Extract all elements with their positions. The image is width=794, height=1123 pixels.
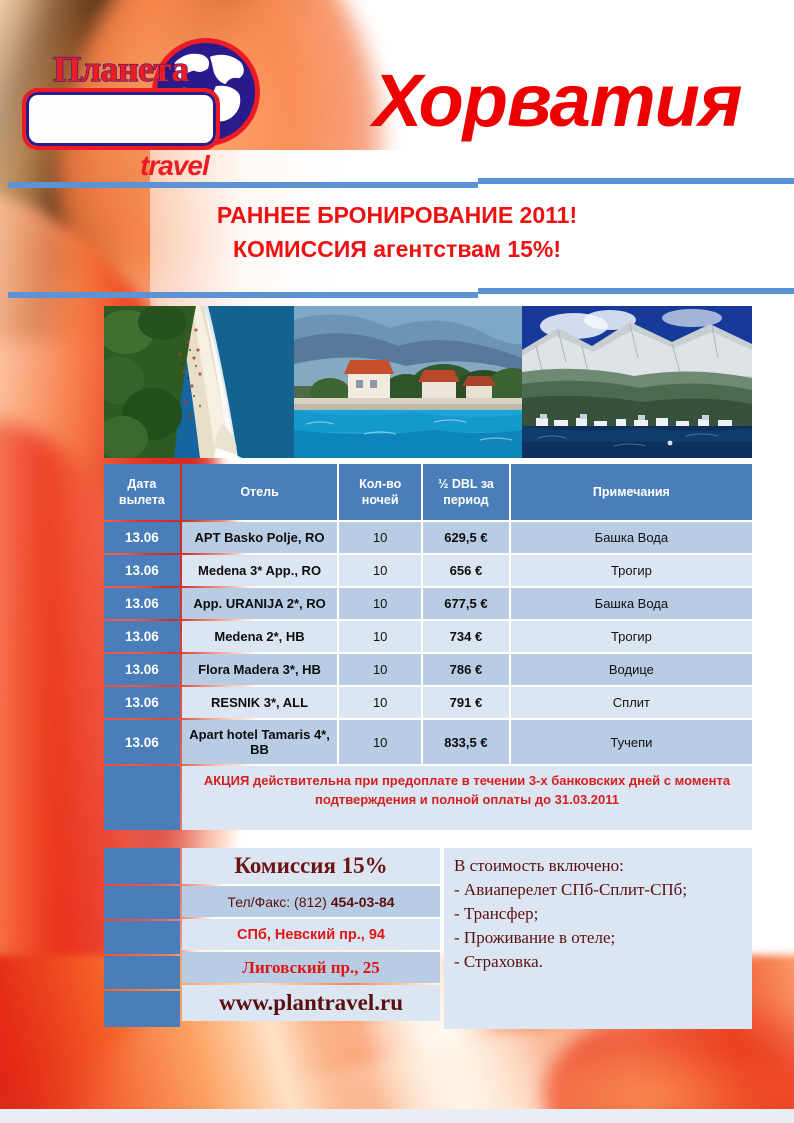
divider-top [0, 178, 794, 192]
header-cell-notes: Примечания [511, 464, 752, 520]
phone-row[interactable]: Тел/Факс: (812) 454-03-84 [182, 886, 440, 917]
cell-date: 13.06 [104, 555, 180, 586]
cell-hotel: APT Basko Polje, RO [182, 522, 338, 553]
table-row: 13.06 Medena 3* App., RO 10 656 € Трогир [104, 555, 752, 586]
contact-footer: Комиссия 15% Тел/Факс: (812) 454-03-84 С… [104, 848, 752, 1029]
cell-date: 13.06 [104, 588, 180, 619]
cell-nights: 10 [339, 687, 421, 718]
company-logo: Планета travel [22, 38, 277, 180]
cell-note: Башка Вода [511, 522, 752, 553]
cell-date: 13.06 [104, 687, 180, 718]
cell-note: Трогир [511, 621, 752, 652]
phone-number: 454-03-84 [331, 894, 395, 910]
cell-note: Трогир [511, 555, 752, 586]
cell-price: 656 € [423, 555, 509, 586]
header-cell-price: ½ DBL запериод [423, 464, 509, 520]
commission-label: Комиссия 15% [182, 848, 440, 884]
photo-strip [104, 306, 752, 458]
poster-header: Планета travel Хорватия [0, 0, 794, 180]
included-panel: В стоимость включено: - Авиаперелет СПб-… [444, 848, 752, 1029]
address-nevsky: СПб, Невский пр., 94 [182, 919, 440, 950]
cell-hotel: App. URANIJA 2*, RO [182, 588, 338, 619]
bottom-edge-bar [0, 1109, 794, 1123]
cell-price: 677,5 € [423, 588, 509, 619]
website-link[interactable]: www.plantravel.ru [182, 985, 440, 1021]
price-table: Датавылета Отель Кол-воночей ½ DBL запер… [104, 464, 752, 832]
footer-blue-cell [104, 921, 180, 954]
promo-band-spacer [104, 766, 180, 830]
cell-date: 13.06 [104, 720, 180, 764]
footer-blue-cell [104, 886, 180, 919]
cell-price: 791 € [423, 687, 509, 718]
table-row: 13.06 Medena 2*, HB 10 734 € Трогир [104, 621, 752, 652]
cell-hotel: Flora Madera 3*, HB [182, 654, 338, 685]
table-row: 13.06 Apart hotel Tamaris 4*, BB 10 833,… [104, 720, 752, 764]
table-header-row: Датавылета Отель Кол-воночей ½ DBL запер… [104, 464, 752, 520]
cell-price: 786 € [423, 654, 509, 685]
beach-cove-photo [104, 306, 294, 458]
cell-date: 13.06 [104, 522, 180, 553]
promo-heading: РАННЕЕ БРОНИРОВАНИЕ 2011! КОМИССИЯ агент… [0, 198, 794, 266]
cell-note: Водице [511, 654, 752, 685]
promo-band-row: АКЦИЯ действительна при предоплате в теч… [104, 766, 752, 830]
cell-hotel: Medena 2*, HB [182, 621, 338, 652]
cell-price: 833,5 € [423, 720, 509, 764]
cell-note: Тучепи [511, 720, 752, 764]
header-cell-date: Датавылета [104, 464, 180, 520]
included-item: - Авиаперелет СПб-Сплит-СПб; [454, 878, 742, 902]
cell-nights: 10 [339, 555, 421, 586]
table-row: 13.06 RESNIK 3*, ALL 10 791 € Сплит [104, 687, 752, 718]
included-title: В стоимость включено: [454, 854, 742, 878]
promo-line-2: КОМИССИЯ агентствам 15%! [0, 232, 794, 266]
cell-nights: 10 [339, 588, 421, 619]
table-row: 13.06 App. URANIJA 2*, RO 10 677,5 € Баш… [104, 588, 752, 619]
cell-date: 13.06 [104, 654, 180, 685]
divider-bar-right [478, 178, 794, 184]
table-row: 13.06 Flora Madera 3*, HB 10 786 € Водиц… [104, 654, 752, 685]
divider-bar-right-2 [478, 288, 794, 294]
included-item: - Проживание в отеле; [454, 926, 742, 950]
footer-blue-cell [104, 991, 180, 1027]
poster-page: Планета travel Хорватия РАННЕЕ БРОНИРОВА… [0, 0, 794, 1123]
cell-nights: 10 [339, 720, 421, 764]
cell-price: 734 € [423, 621, 509, 652]
address-ligovsky: Лиговский пр., 25 [182, 952, 440, 983]
table-row: 13.06 APT Basko Polje, RO 10 629,5 € Баш… [104, 522, 752, 553]
cell-price: 629,5 € [423, 522, 509, 553]
cell-nights: 10 [339, 654, 421, 685]
promo-line-1: РАННЕЕ БРОНИРОВАНИЕ 2011! [0, 198, 794, 232]
footer-blue-column [104, 848, 182, 1029]
cell-nights: 10 [339, 621, 421, 652]
cell-date: 13.06 [104, 621, 180, 652]
page-title: Хорватия [373, 62, 773, 140]
included-item: - Страховка. [454, 950, 742, 974]
footer-blue-cell [104, 848, 180, 884]
cell-note: Сплит [511, 687, 752, 718]
cell-nights: 10 [339, 522, 421, 553]
mountain-resort-photo [522, 306, 752, 458]
cell-hotel: Apart hotel Tamaris 4*, BB [182, 720, 338, 764]
cell-note: Башка Вода [511, 588, 752, 619]
divider-bar-left [8, 182, 478, 188]
header-cell-nights: Кол-воночей [339, 464, 421, 520]
seaside-villas-photo [294, 306, 522, 458]
phone-label: Тел/Факс: (812) [227, 894, 326, 910]
promo-band-text: АКЦИЯ действительна при предоплате в теч… [182, 766, 752, 830]
logo-name: Планета [22, 38, 220, 100]
header-cell-hotel: Отель [182, 464, 338, 520]
contact-column: Комиссия 15% Тел/Факс: (812) 454-03-84 С… [182, 848, 442, 1029]
cell-hotel: RESNIK 3*, ALL [182, 687, 338, 718]
divider-bottom [0, 288, 794, 302]
divider-bar-left-2 [8, 292, 478, 298]
cell-hotel: Medena 3* App., RO [182, 555, 338, 586]
footer-blue-cell [104, 956, 180, 989]
included-item: - Трансфер; [454, 902, 742, 926]
